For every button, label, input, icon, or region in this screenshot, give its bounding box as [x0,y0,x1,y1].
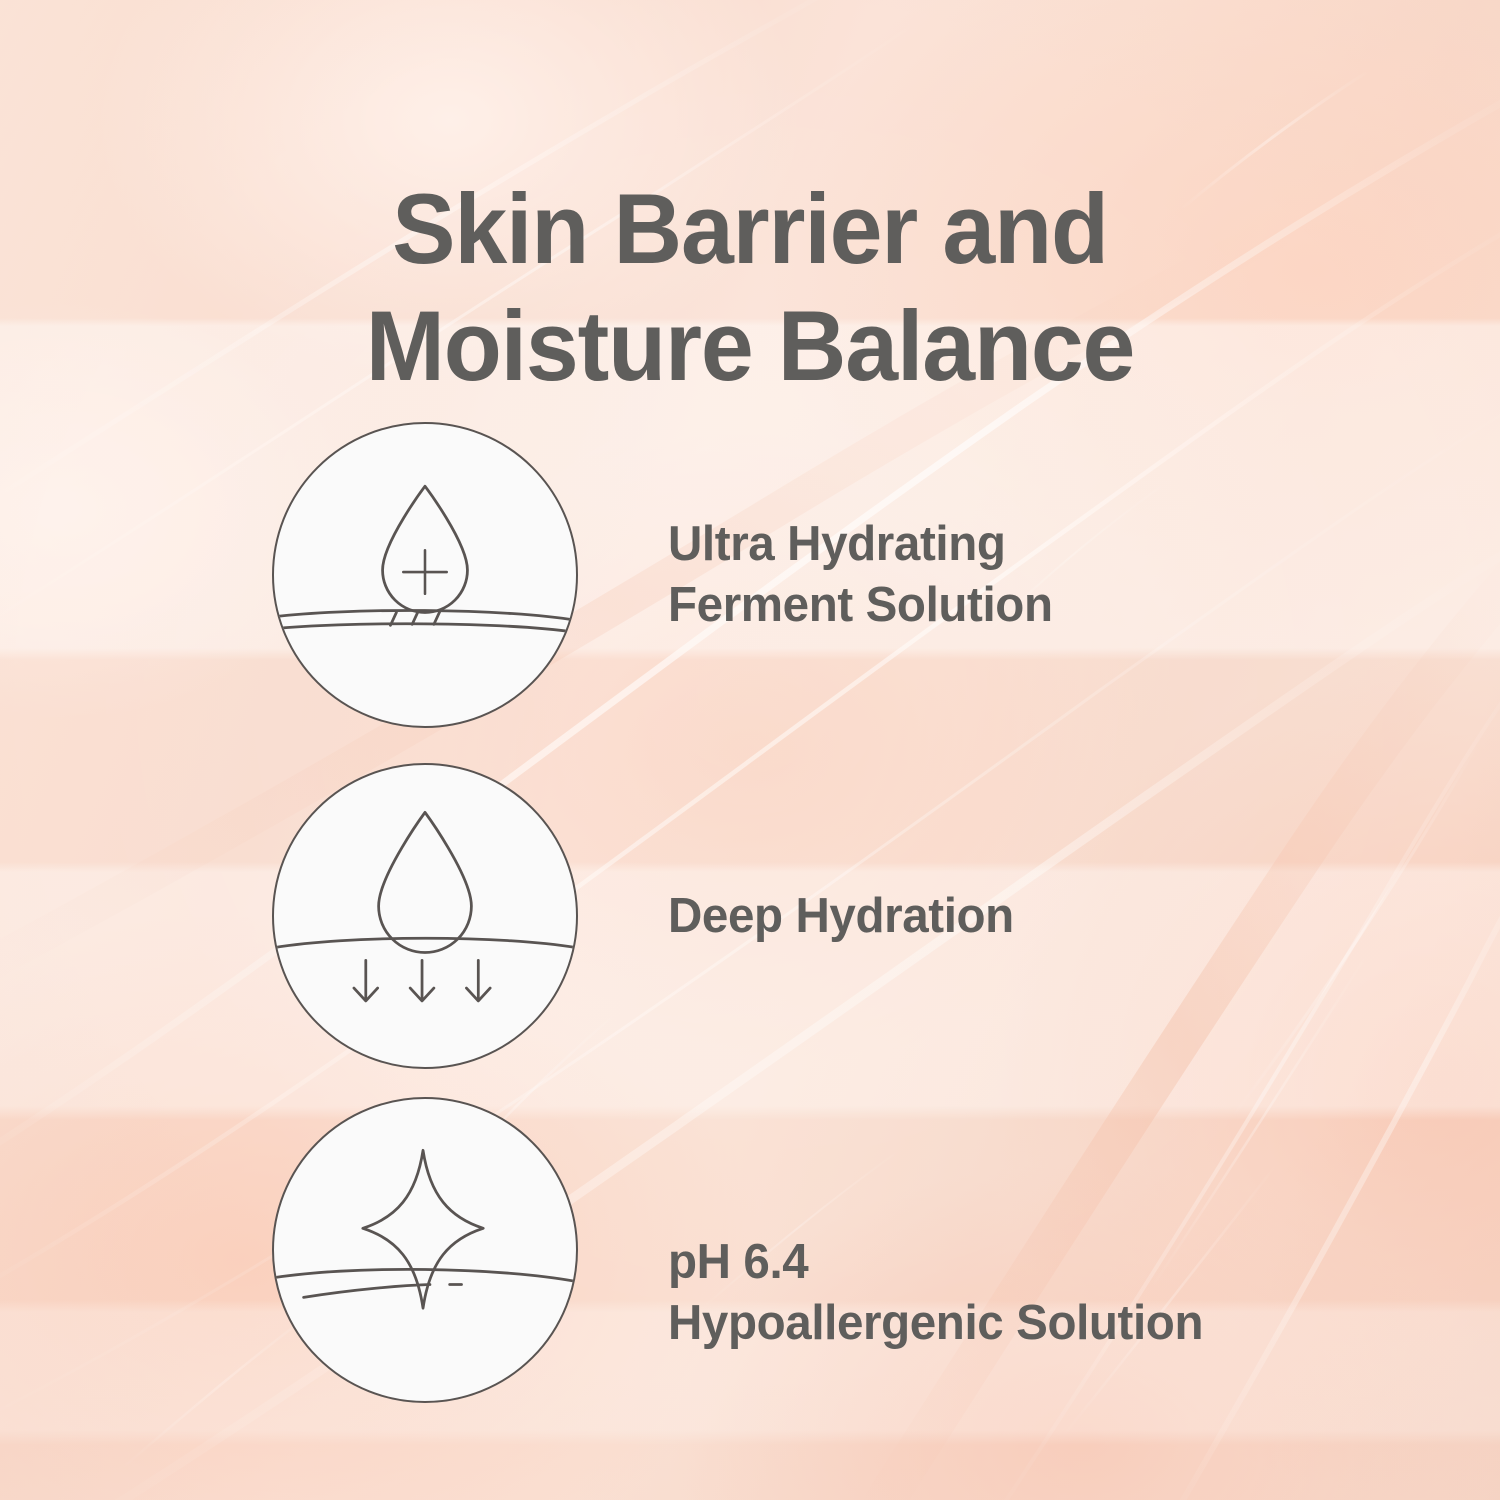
feature-list: Ultra Hydrating Ferment Solution [0,0,1500,1500]
feature-item-ph-hypoallergenic: pH 6.4 Hypoallergenic Solution [272,1097,1452,1403]
droplet-absorption-svg [274,765,576,1067]
infographic-canvas: Skin Barrier and Moisture Balance [0,0,1500,1500]
droplet-absorption-icon [272,763,578,1069]
droplet-plus-barrier-svg [274,424,576,726]
sparkle-calm-skin-icon [272,1097,578,1403]
feature-label-deep-hydration: Deep Hydration [668,886,1014,947]
feature-item-ultra-hydrating: Ultra Hydrating Ferment Solution [272,422,1452,728]
sparkle-calm-skin-svg [274,1099,576,1401]
feature-label-ultra-hydrating: Ultra Hydrating Ferment Solution [668,514,1053,636]
feature-item-deep-hydration: Deep Hydration [272,763,1452,1069]
feature-label-ph-hypoallergenic: pH 6.4 Hypoallergenic Solution [668,1232,1203,1354]
droplet-plus-barrier-icon [272,422,578,728]
